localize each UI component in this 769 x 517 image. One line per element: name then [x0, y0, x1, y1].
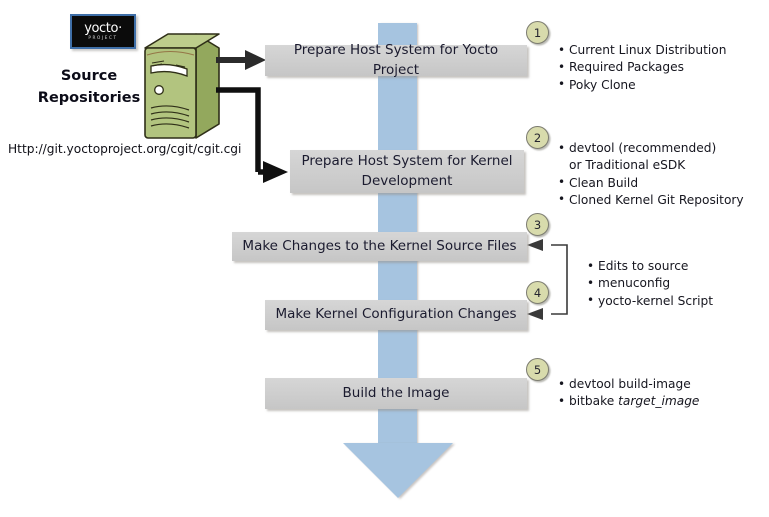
- annotation-steps-3-and-4: Edits to source menuconfig yocto-kernel …: [585, 258, 713, 310]
- annotation-bullet: Required Packages: [569, 59, 726, 76]
- annotation-step-2: devtool (recommended) or Traditional eSD…: [556, 140, 731, 209]
- process-box-step-1[interactable]: Prepare Host System for Yocto Project: [265, 45, 527, 76]
- annotation-bullet: bitbake target_image: [569, 393, 699, 410]
- process-box-step-2[interactable]: Prepare Host System for Kernel Developme…: [290, 150, 524, 193]
- bitbake-command-prefix: bitbake: [569, 394, 618, 408]
- step-circle-4: 4: [526, 281, 549, 304]
- step-circle-1: 1: [526, 21, 549, 44]
- annotation-bullet: Cloned Kernel Git Repository: [569, 192, 731, 209]
- annotation-bullet: yocto-kernel Script: [598, 293, 713, 310]
- annotation-bullet: devtool (recommended) or Traditional eSD…: [569, 140, 731, 175]
- annotation-bullet: Poky Clone: [569, 77, 726, 94]
- diagram-canvas: yocto· PROJECT Source Repositories Http:…: [0, 0, 769, 517]
- step-circle-2: 2: [526, 126, 549, 149]
- annotation-bullet: devtool build-image: [569, 376, 699, 393]
- annotation-bullet: Clean Build: [569, 175, 731, 192]
- annotation-bullet: Current Linux Distribution: [569, 42, 726, 59]
- process-box-step-5[interactable]: Build the Image: [265, 378, 527, 409]
- annotation-bullet: menuconfig: [598, 275, 713, 292]
- annotation-step-1: Current Linux Distribution Required Pack…: [556, 42, 726, 94]
- annotation-step-5: devtool build-image bitbake target_image: [556, 376, 699, 411]
- process-box-step-3[interactable]: Make Changes to the Kernel Source Files: [232, 232, 527, 261]
- process-box-step-4[interactable]: Make Kernel Configuration Changes: [265, 300, 527, 330]
- annotation-bullet: Edits to source: [598, 258, 713, 275]
- bitbake-target-argument: target_image: [618, 394, 699, 408]
- step-circle-5: 5: [526, 358, 549, 381]
- step-circle-3: 3: [526, 213, 549, 236]
